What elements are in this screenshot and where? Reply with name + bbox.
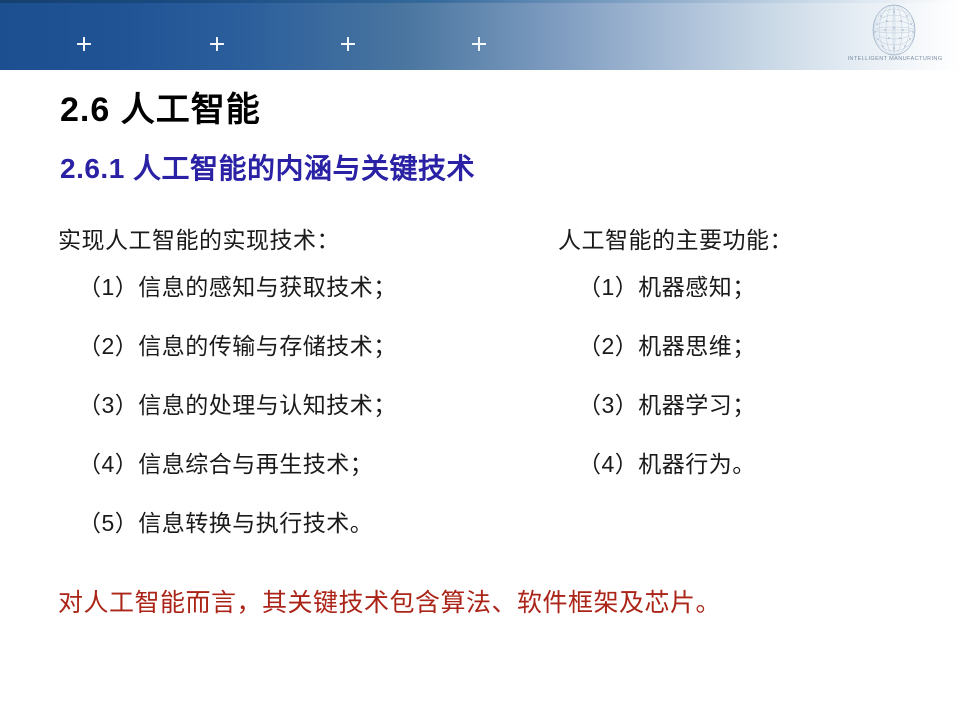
header-banner: INTELLIGENT MANUFACTURING [0,0,960,70]
list-item: （3）信息的处理与认知技术； [58,376,528,435]
list-item: （4）机器行为。 [558,435,958,494]
list-item: （2）信息的传输与存储技术； [58,317,528,376]
summary-note: 对人工智能而言，其关键技术包含算法、软件框架及芯片。 [58,583,721,619]
right-column: 人工智能的主要功能： （1）机器感知； （2）机器思维； （3）机器学习； （4… [558,222,958,494]
list-item: （5）信息转换与执行技术。 [58,494,528,553]
page-title: 2.6 人工智能 [60,82,261,131]
brand-name: INTELLIGENT MANUFACTURING [840,56,950,62]
left-column-heading: 实现人工智能的实现技术： [58,222,528,258]
left-column: 实现人工智能的实现技术： （1）信息的感知与获取技术； （2）信息的传输与存储技… [58,222,528,553]
list-item: （2）机器思维； [558,317,958,376]
right-column-heading: 人工智能的主要功能： [558,222,958,258]
list-item: （1）机器感知； [558,258,958,317]
plus-marker-icon [472,37,486,51]
globe-sphere-icon [865,4,923,56]
list-item: （4）信息综合与再生技术； [58,435,528,494]
list-item: （1）信息的感知与获取技术； [58,258,528,317]
plus-marker-icon [210,37,224,51]
banner-top-line [0,0,960,3]
brand-logo: INTELLIGENT MANUFACTURING [840,4,950,68]
list-item: （3）机器学习； [558,376,958,435]
plus-marker-icon [77,37,91,51]
plus-marker-icon [341,37,355,51]
section-subtitle: 2.6.1 人工智能的内涵与关键技术 [60,147,475,187]
